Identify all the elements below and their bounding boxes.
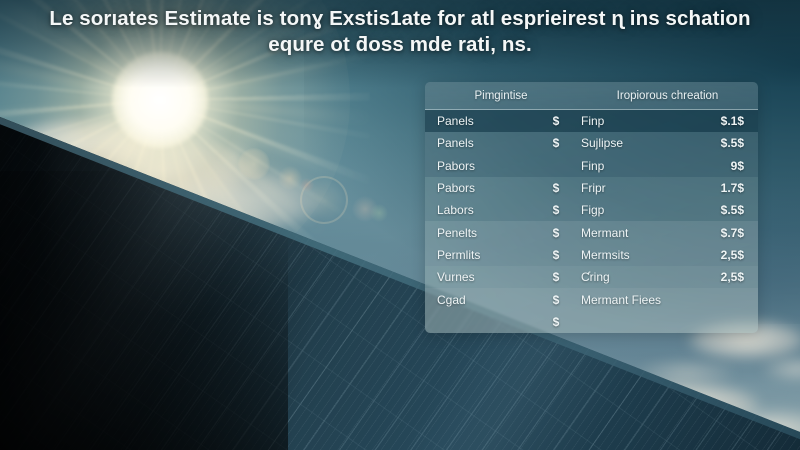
currency-symbol: $ — [535, 226, 577, 240]
currency-symbol: $ — [535, 136, 577, 150]
currency-symbol: $ — [535, 315, 577, 329]
table-row[interactable]: PaborsFinp9$ — [425, 155, 758, 177]
row-category: Cgad — [425, 293, 535, 307]
row-amount: $.5$ — [680, 136, 758, 150]
row-category: Labors — [425, 203, 535, 217]
row-description: Fripr — [577, 181, 680, 195]
column-header-description: Iropiorous chreation — [577, 90, 758, 102]
row-description: Ƈring — [577, 270, 680, 284]
row-category: Panels — [425, 114, 535, 128]
row-category: Panels — [425, 136, 535, 150]
row-amount: $.7$ — [680, 226, 758, 240]
column-header-category: Pimgintise — [425, 90, 577, 102]
screenshot-root: Le sorıates Estimate is tonɣ Exstis1ate … — [0, 0, 800, 450]
currency-symbol: $ — [535, 181, 577, 195]
row-category: Penelts — [425, 226, 535, 240]
row-description: Finp — [577, 159, 680, 173]
table-row[interactable]: Permlits$Mermsits2,5$ — [425, 244, 758, 266]
page-title: Le sorıates Estimate is tonɣ Exstis1ate … — [16, 6, 784, 58]
currency-symbol: $ — [535, 203, 577, 217]
estimate-table-panel: Pimgintise Iropiorous chreation Panels$F… — [425, 82, 758, 333]
table-row[interactable]: Vurnes$Ƈring2,5$ — [425, 266, 758, 288]
table-header-row: Pimgintise Iropiorous chreation — [425, 82, 758, 110]
table-row[interactable]: Penelts$Mermant$.7$ — [425, 221, 758, 243]
row-description: Sujlipse — [577, 136, 680, 150]
currency-symbol: $ — [535, 114, 577, 128]
row-amount: 2,5$ — [680, 270, 758, 284]
row-description: Mermsits — [577, 248, 680, 262]
row-category: Vurnes — [425, 270, 535, 284]
row-description: Finp — [577, 114, 680, 128]
table-row[interactable]: Cgad$Mermant Fiees — [425, 288, 758, 310]
row-amount: $.1$ — [680, 114, 758, 128]
row-category: Pabors — [425, 159, 535, 173]
page-title-line-2: equre ot ƌoss mde rati, ns. — [16, 32, 784, 58]
currency-symbol: $ — [535, 248, 577, 262]
row-amount: 9$ — [680, 159, 758, 173]
row-description: Figp — [577, 203, 680, 217]
row-description: Mermant Fiees — [577, 293, 680, 307]
table-row[interactable]: Panels$Finp$.1$ — [425, 110, 758, 132]
currency-symbol: $ — [535, 293, 577, 307]
page-title-line-1: Le sorıates Estimate is tonɣ Exstis1ate … — [49, 7, 750, 30]
row-category: Permlits — [425, 248, 535, 262]
row-amount: 2,5$ — [680, 248, 758, 262]
currency-symbol: $ — [535, 270, 577, 284]
table-body: Panels$Finp$.1$Panels$Sujlipse$.5$Pabors… — [425, 110, 758, 333]
table-row[interactable]: $ — [425, 311, 758, 333]
row-description: Mermant — [577, 226, 680, 240]
table-row[interactable]: Panels$Sujlipse$.5$ — [425, 132, 758, 154]
row-category: Pabors — [425, 181, 535, 195]
row-amount: $.5$ — [680, 203, 758, 217]
table-row[interactable]: Pabors$Fripr1.7$ — [425, 177, 758, 199]
row-amount: 1.7$ — [680, 181, 758, 195]
table-row[interactable]: Labors$Figp$.5$ — [425, 199, 758, 221]
